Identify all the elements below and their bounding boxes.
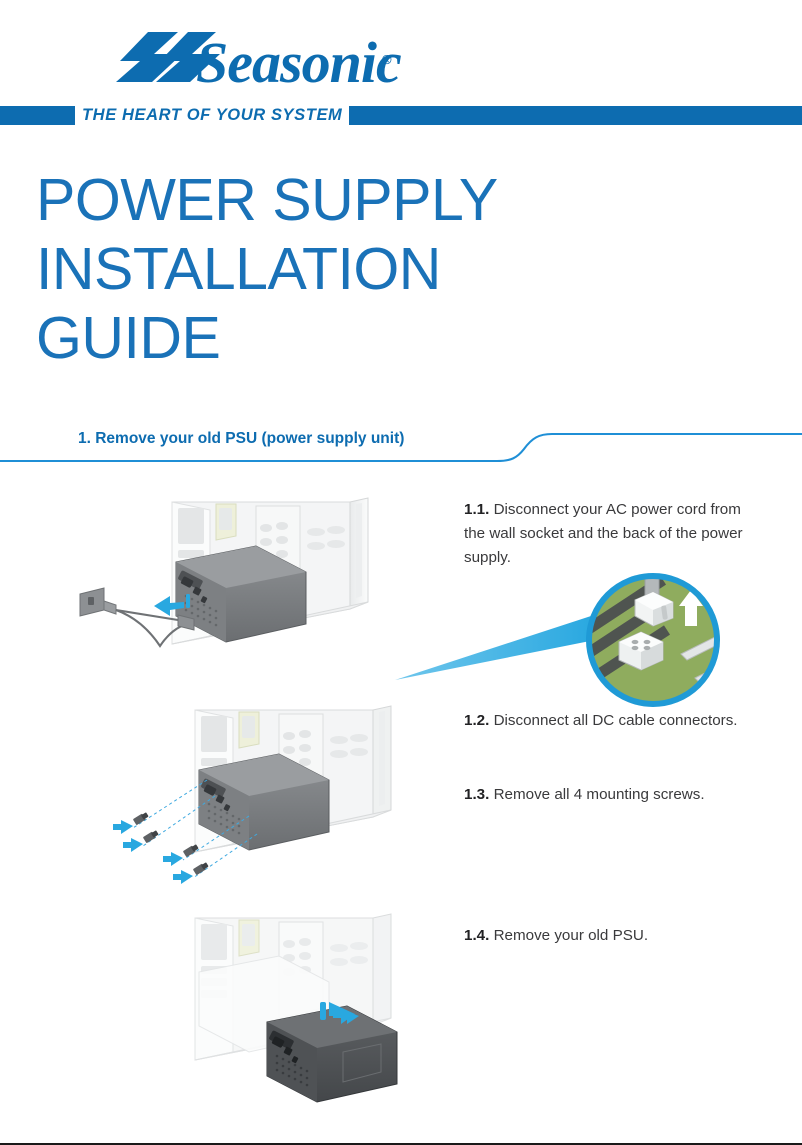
step-1-1-text: 1.1. Disconnect your AC power cord from … xyxy=(464,498,764,570)
brand-header: Seasonic ® THE HEART OF YOUR SYSTEM xyxy=(0,0,802,140)
illustration-step-1-4 xyxy=(155,910,455,1100)
step-1-4-body: Remove your old PSU. xyxy=(489,927,648,944)
step-1-3-text: 1.3. Remove all 4 mounting screws. xyxy=(464,783,774,807)
seasonic-logo: Seasonic xyxy=(110,30,410,92)
step-1-3-body: Remove all 4 mounting screws. xyxy=(489,786,704,803)
page-title-line-1: POWER SUPPLY xyxy=(36,166,656,235)
installation-guide-page: Seasonic ® THE HEART OF YOUR SYSTEM POWE… xyxy=(0,0,802,1143)
step-1-1-label: 1.1. xyxy=(464,501,489,518)
registered-trademark-icon: ® xyxy=(382,53,392,66)
section-header: 1. Remove your old PSU (power supply uni… xyxy=(0,425,802,470)
step-1-4-label: 1.4. xyxy=(464,927,489,944)
screw-icon xyxy=(113,812,209,884)
magnifier-callout xyxy=(395,562,735,722)
step-1-4-text: 1.4. Remove your old PSU. xyxy=(464,924,764,948)
step-1-1-body: Disconnect your AC power cord from the w… xyxy=(464,501,743,566)
tagline-text: THE HEART OF YOUR SYSTEM xyxy=(82,107,342,124)
page-title-line-3: GUIDE xyxy=(36,304,656,373)
section-heading: 1. Remove your old PSU (power supply uni… xyxy=(78,430,404,448)
page-title: POWER SUPPLY INSTALLATION GUIDE xyxy=(36,166,656,373)
motherboard-detail xyxy=(581,562,735,708)
svg-text:Seasonic: Seasonic xyxy=(196,30,401,92)
tagline-container: THE HEART OF YOUR SYSTEM xyxy=(75,104,349,127)
illustration-step-1-3 xyxy=(115,700,475,915)
page-title-line-2: INSTALLATION xyxy=(36,235,656,304)
callout-connector-wedge xyxy=(395,616,595,680)
